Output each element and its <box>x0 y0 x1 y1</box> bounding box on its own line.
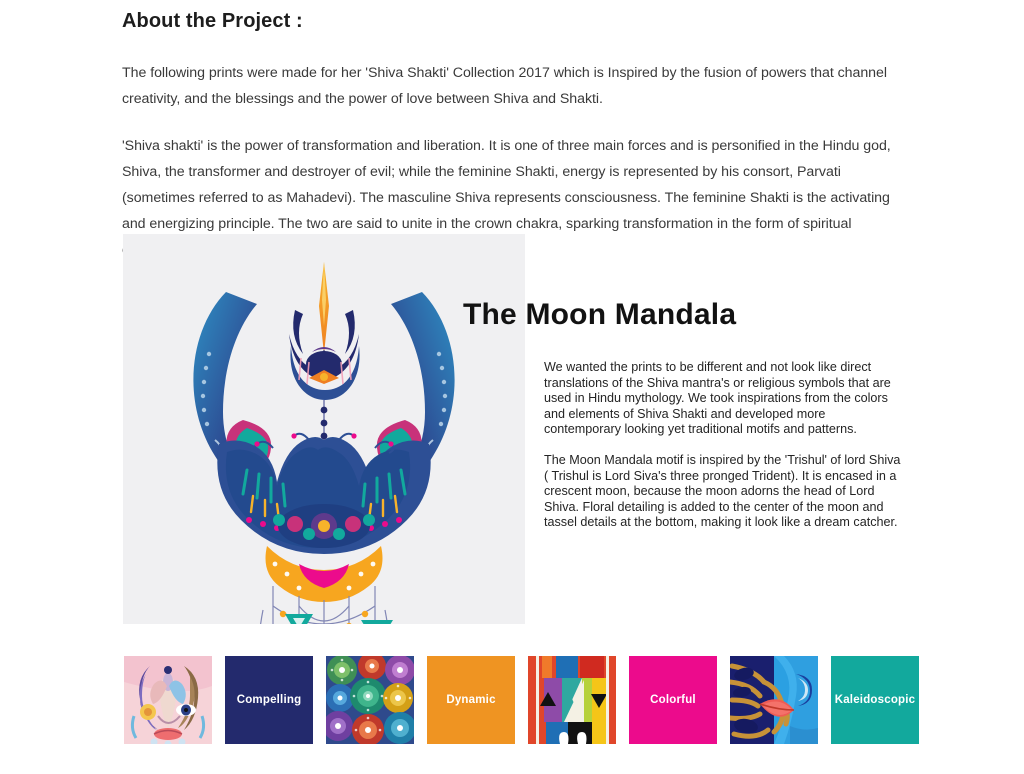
feature-paragraph-2: The Moon Mandala motif is inspired by th… <box>544 453 902 531</box>
dynamic-tile-label: Dynamic <box>427 694 515 706</box>
page-title: About the Project : <box>122 8 912 34</box>
feature-body: We wanted the prints to be different and… <box>544 360 902 531</box>
compelling-tile[interactable]: Compelling <box>225 656 313 744</box>
geometric-abstract-thumbnail[interactable] <box>528 656 616 744</box>
dynamic-tile[interactable]: Dynamic <box>427 656 515 744</box>
kaleidoscopic-tile-label: Kaleidoscopic <box>831 694 919 706</box>
feature-text-column: The Moon Mandala We wanted the prints to… <box>463 296 915 531</box>
colorful-tile[interactable]: Colorful <box>629 656 717 744</box>
thumbnail-strip: Compelling Dyn <box>124 656 936 744</box>
intro-paragraph-1: The following prints were made for her '… <box>122 60 912 112</box>
feature-title: The Moon Mandala <box>463 296 915 334</box>
compelling-tile-label: Compelling <box>225 694 313 706</box>
blue-gold-face-painting-thumbnail[interactable] <box>730 656 818 744</box>
feature-paragraph-1: We wanted the prints to be different and… <box>544 360 902 438</box>
colorful-tile-label: Colorful <box>629 694 717 706</box>
illustrated-faces-thumbnail[interactable] <box>124 656 212 744</box>
intro-section: About the Project : The following prints… <box>122 8 912 263</box>
painted-mandala-stones-thumbnail[interactable] <box>326 656 414 744</box>
kaleidoscopic-tile[interactable]: Kaleidoscopic <box>831 656 919 744</box>
